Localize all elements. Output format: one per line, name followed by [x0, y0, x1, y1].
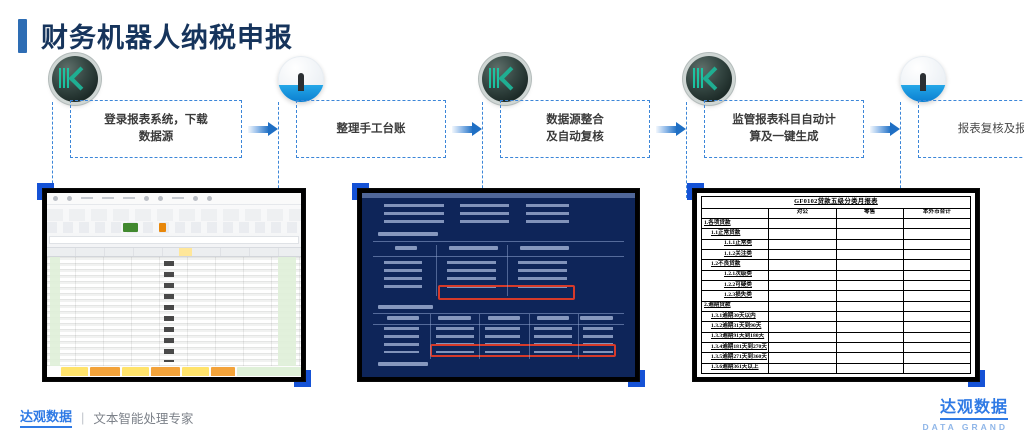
flow-step-3[interactable]: 数据源整合 及自动复核 — [500, 100, 650, 158]
cell-retail[interactable] — [836, 342, 903, 352]
logo-chinese: 达观数据 — [940, 393, 1008, 420]
logo-english: DATA GRAND — [922, 422, 1008, 432]
flow-step-2[interactable]: 整理手工台账 — [296, 100, 446, 158]
excel-window — [47, 193, 301, 377]
table-row: 1.2.3损失类 — [702, 291, 971, 301]
table-row: 1.2.1次级类 — [702, 270, 971, 280]
row-label: 1.1正常贷款 — [702, 229, 769, 239]
excel-quick-access-toolbar — [47, 193, 301, 205]
table-row: 1.1.1正常类 — [702, 239, 971, 249]
cell-corporate[interactable] — [769, 363, 836, 373]
excel-ribbon-green-button — [123, 223, 138, 232]
cell-retail[interactable] — [836, 239, 903, 249]
process-flow: 登录报表系统，下载 数据源 整理手工台账 数据源整合 及自动复核 — [52, 78, 996, 178]
cell-corporate[interactable] — [769, 280, 836, 290]
flow-step-1[interactable]: 登录报表系统，下载 数据源 — [70, 100, 242, 158]
step-5-connector — [900, 102, 901, 198]
sheet-tab[interactable] — [122, 367, 149, 376]
cell-retail[interactable] — [836, 270, 903, 280]
page-title-text: 财务机器人纳税申报 — [41, 16, 293, 55]
row-label: 1.3.6逾期361天以上 — [702, 363, 769, 373]
cell-corporate[interactable] — [769, 229, 836, 239]
sheet-tab[interactable] — [237, 367, 301, 376]
cell-retail[interactable] — [836, 332, 903, 342]
footer-logo: 达观数据 DATA GRAND — [922, 393, 1008, 432]
step-2-box[interactable]: 整理手工台账 — [296, 100, 446, 158]
footer-left: 达观数据 | 文本智能处理专家 — [20, 406, 193, 428]
col-header-retail: 零售 — [836, 208, 903, 218]
table-row: 1.3.3逾期91天到180天 — [702, 332, 971, 342]
cell-corporate[interactable] — [769, 291, 836, 301]
row-label: 1.3.2逾期31天到90天 — [702, 322, 769, 332]
step-4-line-1: 监管报表科目自动计 — [732, 112, 836, 129]
cell-total[interactable] — [903, 270, 970, 280]
terminal-window — [362, 193, 635, 377]
terminal-highlight-box — [430, 344, 616, 357]
cell-retail[interactable] — [836, 229, 903, 239]
table-row: 1.2.2可疑类 — [702, 280, 971, 290]
cell-corporate[interactable] — [769, 311, 836, 321]
step-1-box[interactable]: 登录报表系统，下载 数据源 — [70, 100, 242, 158]
flow-arrow-2 — [452, 122, 482, 136]
excel-sheet-tabs[interactable] — [47, 366, 301, 377]
report-title: GF0102贷款五级分类月报表 — [702, 197, 971, 209]
table-header-row: 对公 零售 本外币合计 — [702, 208, 971, 218]
excel-grid[interactable] — [47, 257, 301, 366]
cell-corporate[interactable] — [769, 218, 836, 228]
footer-brand: 达观数据 — [20, 406, 72, 428]
flow-arrow-1 — [248, 122, 278, 136]
step-4-line-2: 算及一键生成 — [750, 129, 819, 146]
step-2-connector — [278, 102, 279, 198]
table-row: 1.各项贷款 — [702, 218, 971, 228]
table-row: 1.3.4逾期181天到270天 — [702, 342, 971, 352]
excel-column-headers[interactable] — [47, 248, 301, 257]
excel-highlight-column-left — [50, 257, 60, 366]
table-row: 1.3.1逾期30天以内 — [702, 311, 971, 321]
table-title-row: GF0102贷款五级分类月报表 — [702, 197, 971, 209]
cell-total[interactable] — [903, 229, 970, 239]
cell-total[interactable] — [903, 332, 970, 342]
excel-formula-bar[interactable] — [49, 236, 299, 244]
excel-highlight-column-right — [278, 257, 296, 366]
cell-total[interactable] — [903, 342, 970, 352]
cell-retail[interactable] — [836, 311, 903, 321]
cell-retail[interactable] — [836, 249, 903, 259]
cell-total[interactable] — [903, 249, 970, 259]
flow-step-5[interactable]: 报表复核及报送 — [918, 100, 1024, 158]
flow-step-4[interactable]: 监管报表科目自动计 算及一键生成 — [704, 100, 864, 158]
cell-total[interactable] — [903, 260, 970, 270]
table-row: 2.逾期贷款 — [702, 301, 971, 311]
cell-total[interactable] — [903, 311, 970, 321]
row-label: 1.1.1正常类 — [702, 239, 769, 249]
flow-arrow-3 — [656, 122, 686, 136]
page-title: 财务机器人纳税申报 — [18, 16, 293, 55]
cell-retail[interactable] — [836, 363, 903, 373]
table-row: 1.1.2关注类 — [702, 249, 971, 259]
row-label: 1.2.1次级类 — [702, 270, 769, 280]
cell-total[interactable] — [903, 291, 970, 301]
slide: 财务机器人纳税申报 登录报表系统，下载 数据源 整理手工台账 — [0, 0, 1024, 444]
sheet-tab[interactable] — [90, 367, 119, 376]
footer-tagline: 文本智能处理专家 — [93, 408, 193, 427]
col-header-total: 本外币合计 — [903, 208, 970, 218]
col-header-corporate: 对公 — [769, 208, 836, 218]
step-3-line-2: 及自动复核 — [546, 129, 604, 146]
robot-icon — [482, 56, 528, 102]
person-icon — [278, 56, 324, 102]
cell-retail[interactable] — [836, 260, 903, 270]
step-1-line-2: 数据源 — [139, 129, 174, 146]
cell-total[interactable] — [903, 353, 970, 363]
excel-dense-text-column — [164, 261, 174, 362]
loan-classification-table[interactable]: GF0102贷款五级分类月报表 对公 零售 本外币合计 1.各项贷款 1.1正常… — [701, 196, 971, 374]
step-3-line-1: 数据源整合 — [546, 112, 604, 129]
cell-total[interactable] — [903, 301, 970, 311]
cell-retail[interactable] — [836, 322, 903, 332]
row-label: 1.2不良贷款 — [702, 260, 769, 270]
report-table-body: GF0102贷款五级分类月报表 对公 零售 本外币合计 1.各项贷款 1.1正常… — [702, 197, 971, 374]
robot-icon — [52, 56, 98, 102]
row-label: 1.1.2关注类 — [702, 249, 769, 259]
step-4-box[interactable]: 监管报表科目自动计 算及一键生成 — [704, 100, 864, 158]
cell-corporate[interactable] — [769, 301, 836, 311]
cell-corporate[interactable] — [769, 260, 836, 270]
step-3-box[interactable]: 数据源整合 及自动复核 — [500, 100, 650, 158]
footer-divider: | — [81, 410, 84, 425]
cell-retail[interactable] — [836, 291, 903, 301]
cell-total[interactable] — [903, 280, 970, 290]
cell-corporate[interactable] — [769, 332, 836, 342]
cell-retail[interactable] — [836, 218, 903, 228]
row-label: 1.2.2可疑类 — [702, 280, 769, 290]
sheet-tab[interactable] — [61, 367, 88, 376]
cell-retail[interactable] — [836, 301, 903, 311]
cell-retail[interactable] — [836, 353, 903, 363]
row-label: 1.3.1逾期30天以内 — [702, 311, 769, 321]
table-row: 1.2不良贷款 — [702, 260, 971, 270]
excel-ribbon — [47, 193, 301, 248]
sheet-tab[interactable] — [151, 367, 180, 376]
row-label: 1.各项贷款 — [702, 218, 769, 228]
row-label: 1.3.3逾期91天到180天 — [702, 332, 769, 342]
step-3-connector — [482, 102, 483, 198]
col-header-blank — [702, 208, 769, 218]
row-label: 1.3.5逾期271天到360天 — [702, 353, 769, 363]
step-2-line-1: 整理手工台账 — [337, 121, 406, 138]
step-1-line-1: 登录报表系统，下载 — [104, 112, 208, 129]
step-5-box[interactable]: 报表复核及报送 — [918, 100, 1024, 158]
excel-ribbon-orange-button — [159, 223, 167, 232]
cell-corporate[interactable] — [769, 322, 836, 332]
cell-corporate[interactable] — [769, 270, 836, 280]
table-row: 1.3.2逾期31天到90天 — [702, 322, 971, 332]
table-row: 1.3.5逾期271天到360天 — [702, 353, 971, 363]
row-label: 1.2.3损失类 — [702, 291, 769, 301]
robot-icon — [686, 56, 732, 102]
report-window: GF0102贷款五级分类月报表 对公 零售 本外币合计 1.各项贷款 1.1正常… — [697, 193, 975, 377]
cell-corporate[interactable] — [769, 249, 836, 259]
cell-corporate[interactable] — [769, 342, 836, 352]
cell-total[interactable] — [903, 322, 970, 332]
person-icon — [900, 56, 946, 102]
sheet-tab[interactable] — [211, 367, 235, 376]
screenshot-terminal[interactable] — [357, 188, 640, 382]
row-label: 1.3.4逾期181天到270天 — [702, 342, 769, 352]
cell-total[interactable] — [903, 239, 970, 249]
cell-total[interactable] — [903, 363, 970, 373]
cell-retail[interactable] — [836, 280, 903, 290]
flow-arrow-4 — [870, 122, 900, 136]
row-label: 2.逾期贷款 — [702, 301, 769, 311]
screenshot-spreadsheet[interactable] — [42, 188, 306, 382]
screenshot-report[interactable]: GF0102贷款五级分类月报表 对公 零售 本外币合计 1.各项贷款 1.1正常… — [692, 188, 980, 382]
cell-total[interactable] — [903, 218, 970, 228]
cell-corporate[interactable] — [769, 239, 836, 249]
step-5-line-1: 报表复核及报送 — [958, 121, 1024, 138]
table-row: 1.3.6逾期361天以上 — [702, 363, 971, 373]
title-accent-bar — [18, 19, 27, 53]
sheet-tab[interactable] — [182, 367, 209, 376]
cell-corporate[interactable] — [769, 353, 836, 363]
table-row: 1.1正常贷款 — [702, 229, 971, 239]
